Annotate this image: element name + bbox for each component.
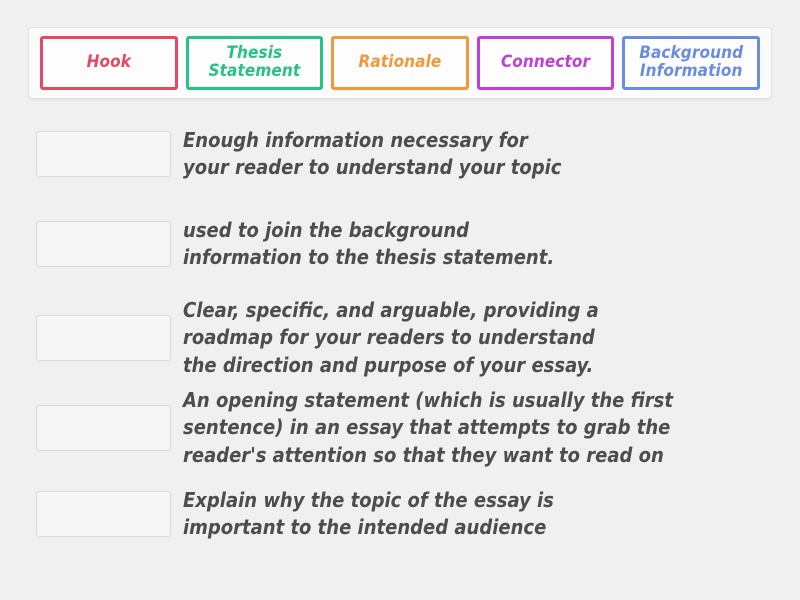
drop-slot-1[interactable] xyxy=(36,131,171,177)
draggable-chip-hook[interactable]: Hook xyxy=(40,36,178,90)
chip-label: Rationale xyxy=(359,54,442,72)
drop-slot-2[interactable] xyxy=(36,221,171,267)
draggable-chip-thesis-statement[interactable]: Thesis Statement xyxy=(186,36,324,90)
definition-text: used to join the background information … xyxy=(183,217,554,271)
chip-label: Thesis Statement xyxy=(209,45,301,81)
list-item: Explain why the topic of the essay is im… xyxy=(0,478,800,550)
definition-text: An opening statement (which is usually t… xyxy=(183,387,673,469)
definition-text: Clear, specific, and arguable, providing… xyxy=(183,297,599,379)
definition-text: Enough information necessary for your re… xyxy=(183,127,561,181)
draggable-chip-rationale[interactable]: Rationale xyxy=(331,36,469,90)
draggable-chip-background-information[interactable]: Background Information xyxy=(622,36,760,90)
list-item: Clear, specific, and arguable, providing… xyxy=(0,294,800,382)
chip-label: Hook xyxy=(87,54,131,72)
drop-slot-4[interactable] xyxy=(36,405,171,451)
list-item: used to join the background information … xyxy=(0,208,800,280)
list-item: Enough information necessary for your re… xyxy=(0,118,800,190)
definition-list: Enough information necessary for your re… xyxy=(0,118,800,554)
drop-slot-3[interactable] xyxy=(36,315,171,361)
drop-slot-5[interactable] xyxy=(36,491,171,537)
chip-label: Connector xyxy=(501,54,590,72)
chip-label: Background Information xyxy=(639,45,743,81)
draggable-term-tray: Hook Thesis Statement Rationale Connecto… xyxy=(28,27,772,99)
draggable-chip-connector[interactable]: Connector xyxy=(477,36,615,90)
list-item: An opening statement (which is usually t… xyxy=(0,384,800,472)
definition-text: Explain why the topic of the essay is im… xyxy=(183,487,554,541)
